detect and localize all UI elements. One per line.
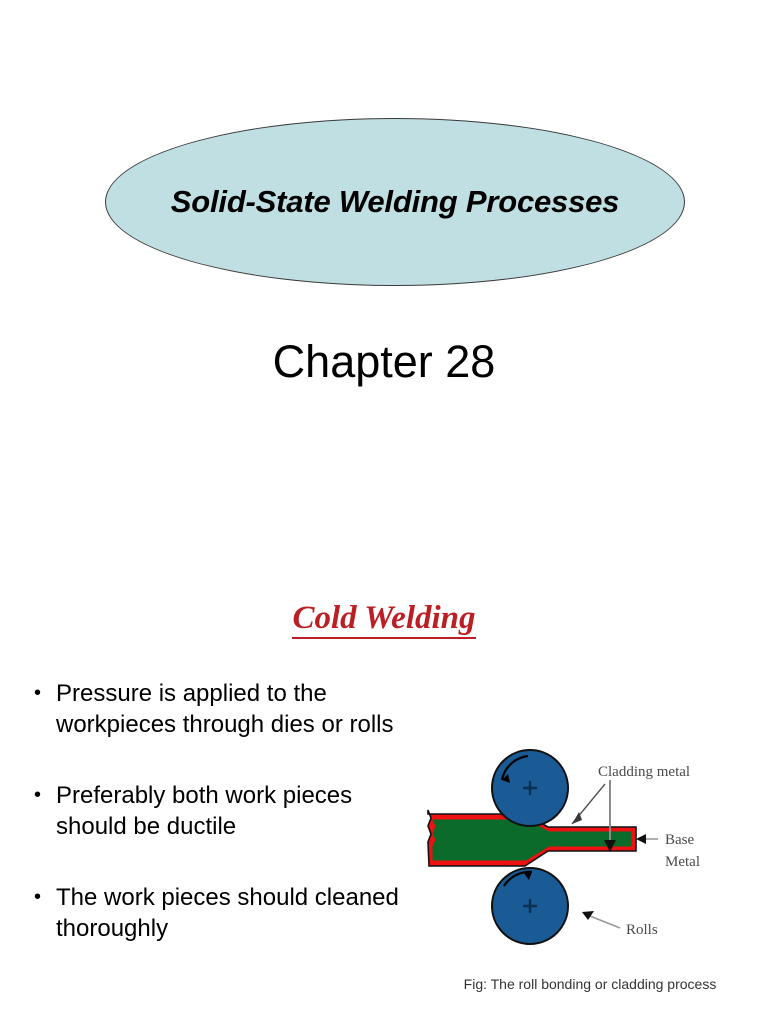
bullet-text: Pressure is applied to the workpieces th… bbox=[56, 678, 408, 740]
cladding-metal-leader-bottom bbox=[604, 780, 616, 852]
bullet-marker-icon: • bbox=[28, 882, 56, 913]
bullet-marker-icon: • bbox=[28, 780, 56, 811]
rolls-label: Rolls bbox=[626, 922, 658, 938]
top-roll bbox=[492, 750, 568, 826]
chapter-heading: Chapter 28 bbox=[0, 336, 768, 388]
cladding-metal-label: Cladding metal bbox=[598, 764, 690, 780]
rolls-leader bbox=[582, 911, 620, 928]
bullet-text: Preferably both work pieces should be du… bbox=[56, 780, 408, 842]
section-heading: Cold Welding bbox=[0, 600, 768, 637]
bottom-roll bbox=[492, 868, 568, 944]
list-item: • The work pieces should cleaned thoroug… bbox=[28, 882, 408, 944]
section-heading-label: Cold Welding bbox=[292, 600, 475, 639]
list-item: • Preferably both work pieces should be … bbox=[28, 780, 408, 842]
bullet-list: • Pressure is applied to the workpieces … bbox=[28, 678, 408, 984]
bullet-text: The work pieces should cleaned thoroughl… bbox=[56, 882, 408, 944]
bullet-marker-icon: • bbox=[28, 678, 56, 709]
roll-bonding-diagram: Cladding metal Base Metal Rolls bbox=[420, 748, 760, 978]
base-metal-leader bbox=[636, 834, 658, 844]
page-title: Solid-State Welding Processes bbox=[105, 184, 685, 220]
base-metal-label-line2: Metal bbox=[665, 854, 700, 870]
title-ellipse: Solid-State Welding Processes bbox=[105, 118, 685, 286]
base-metal-label-line1: Base bbox=[665, 832, 695, 848]
cladding-metal-leader-top bbox=[572, 784, 605, 824]
list-item: • Pressure is applied to the workpieces … bbox=[28, 678, 408, 740]
figure-caption: Fig: The roll bonding or cladding proces… bbox=[420, 976, 760, 992]
roll-bonding-figure: Cladding metal Base Metal Rolls Fig: The… bbox=[420, 748, 760, 1016]
